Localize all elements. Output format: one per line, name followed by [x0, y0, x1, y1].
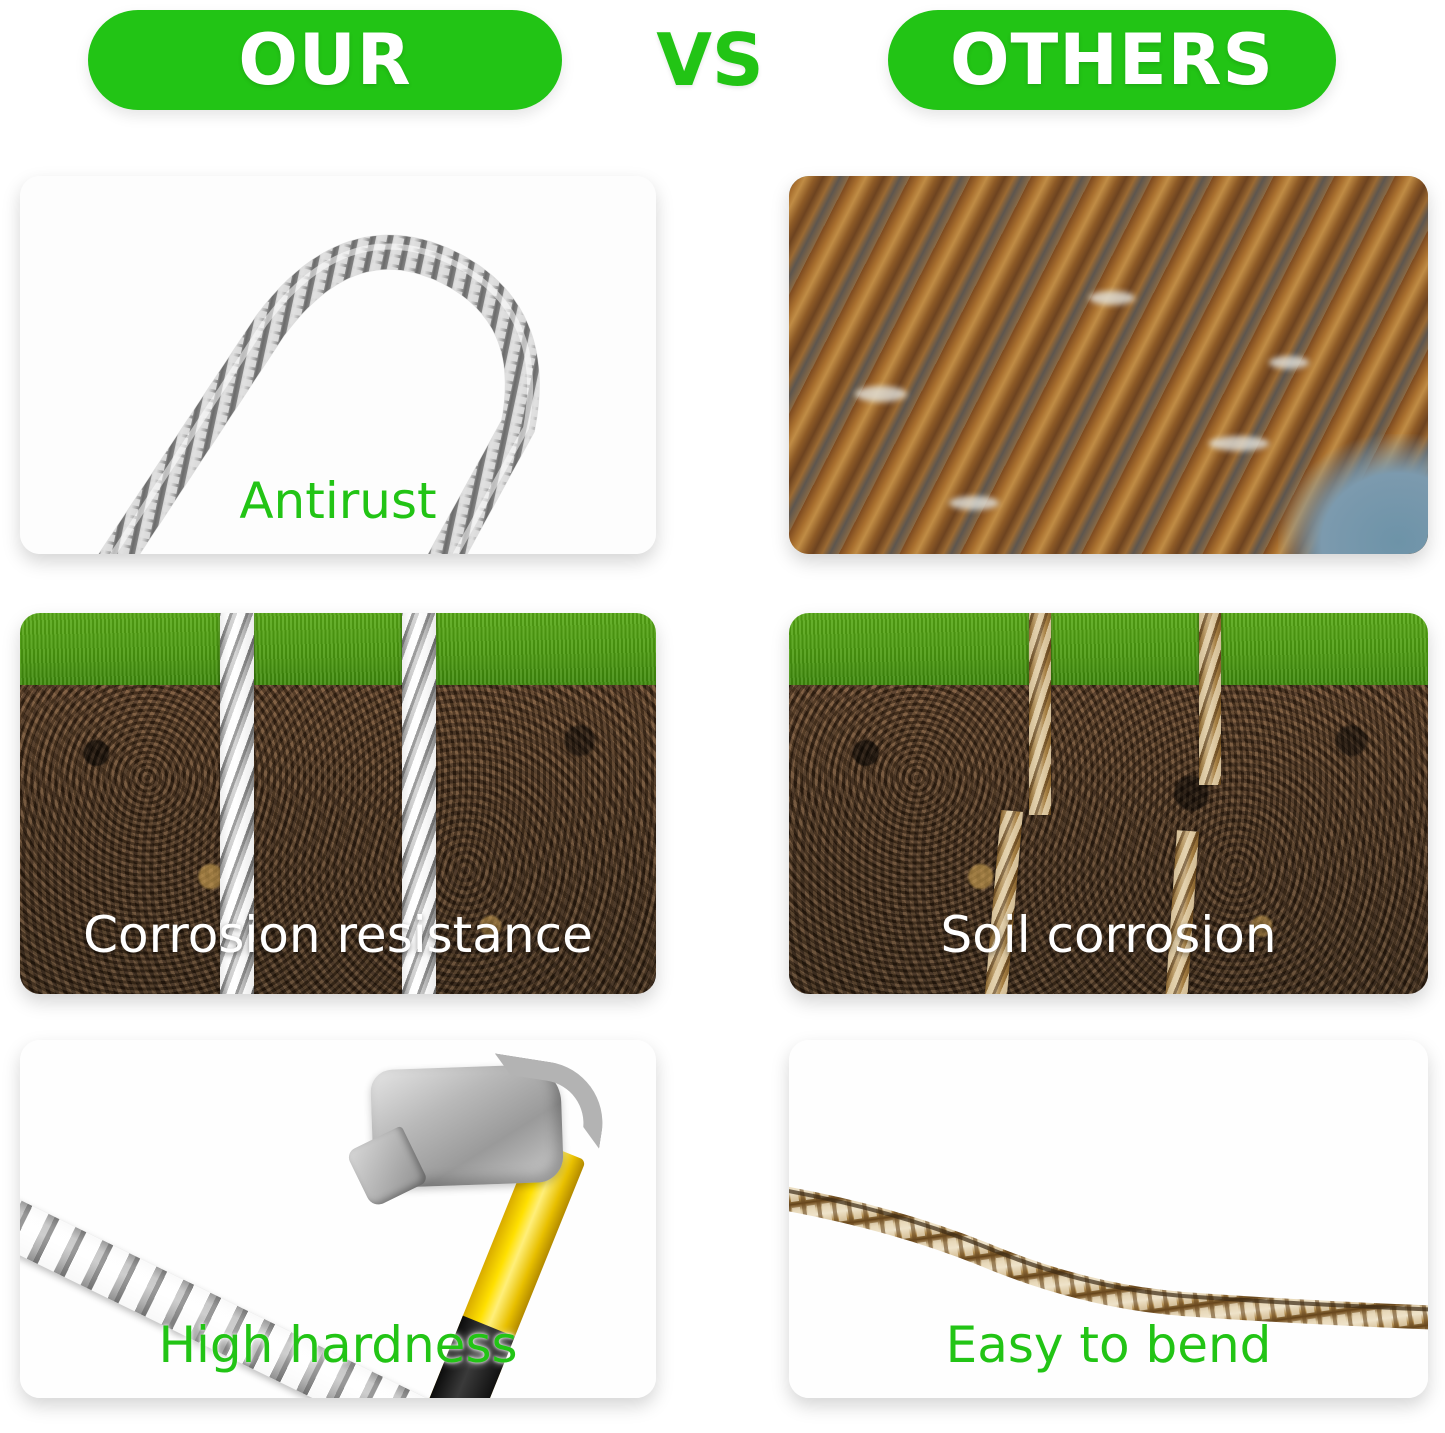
others-label: OTHERS [950, 25, 1274, 95]
comparison-header: OUR VS OTHERS [0, 0, 1445, 128]
card-caption: Antirust [20, 476, 656, 526]
rust-highlight [1209, 436, 1269, 451]
card-caption: Corrosion resistance [20, 910, 656, 960]
vs-label: VS [640, 10, 780, 110]
blue-background-patch [1278, 434, 1428, 554]
corroded-rebar-upper [1199, 613, 1221, 785]
card-caption: Easy to bend [789, 1320, 1428, 1370]
grass-layer [789, 613, 1428, 685]
card-antirust: Antirust [20, 176, 656, 554]
card-high-hardness: High hardness [20, 1040, 656, 1398]
rusty-rebar-photo [789, 176, 1428, 554]
rust-highlight [1089, 291, 1135, 305]
our-pill: OUR [88, 10, 562, 110]
card-easy-to-bend: Easy to bend [789, 1040, 1428, 1398]
wavy-bent-rebar-illustration [789, 1180, 1428, 1330]
card-corrosion-resistance: Corrosion resistance [20, 613, 656, 994]
card-caption: Soil corrosion [789, 910, 1428, 960]
card-caption: High hardness [20, 1320, 656, 1370]
rust-highlight [855, 386, 907, 402]
rust-highlight [949, 496, 999, 510]
grass-layer [20, 613, 656, 685]
card-soil-corrosion: Soil corrosion [789, 613, 1428, 994]
our-label: OUR [238, 25, 411, 95]
card-rust: Rust [789, 176, 1428, 554]
others-pill: OTHERS [888, 10, 1336, 110]
corroded-rebar-upper [1029, 613, 1051, 815]
rust-highlight [1269, 356, 1309, 369]
